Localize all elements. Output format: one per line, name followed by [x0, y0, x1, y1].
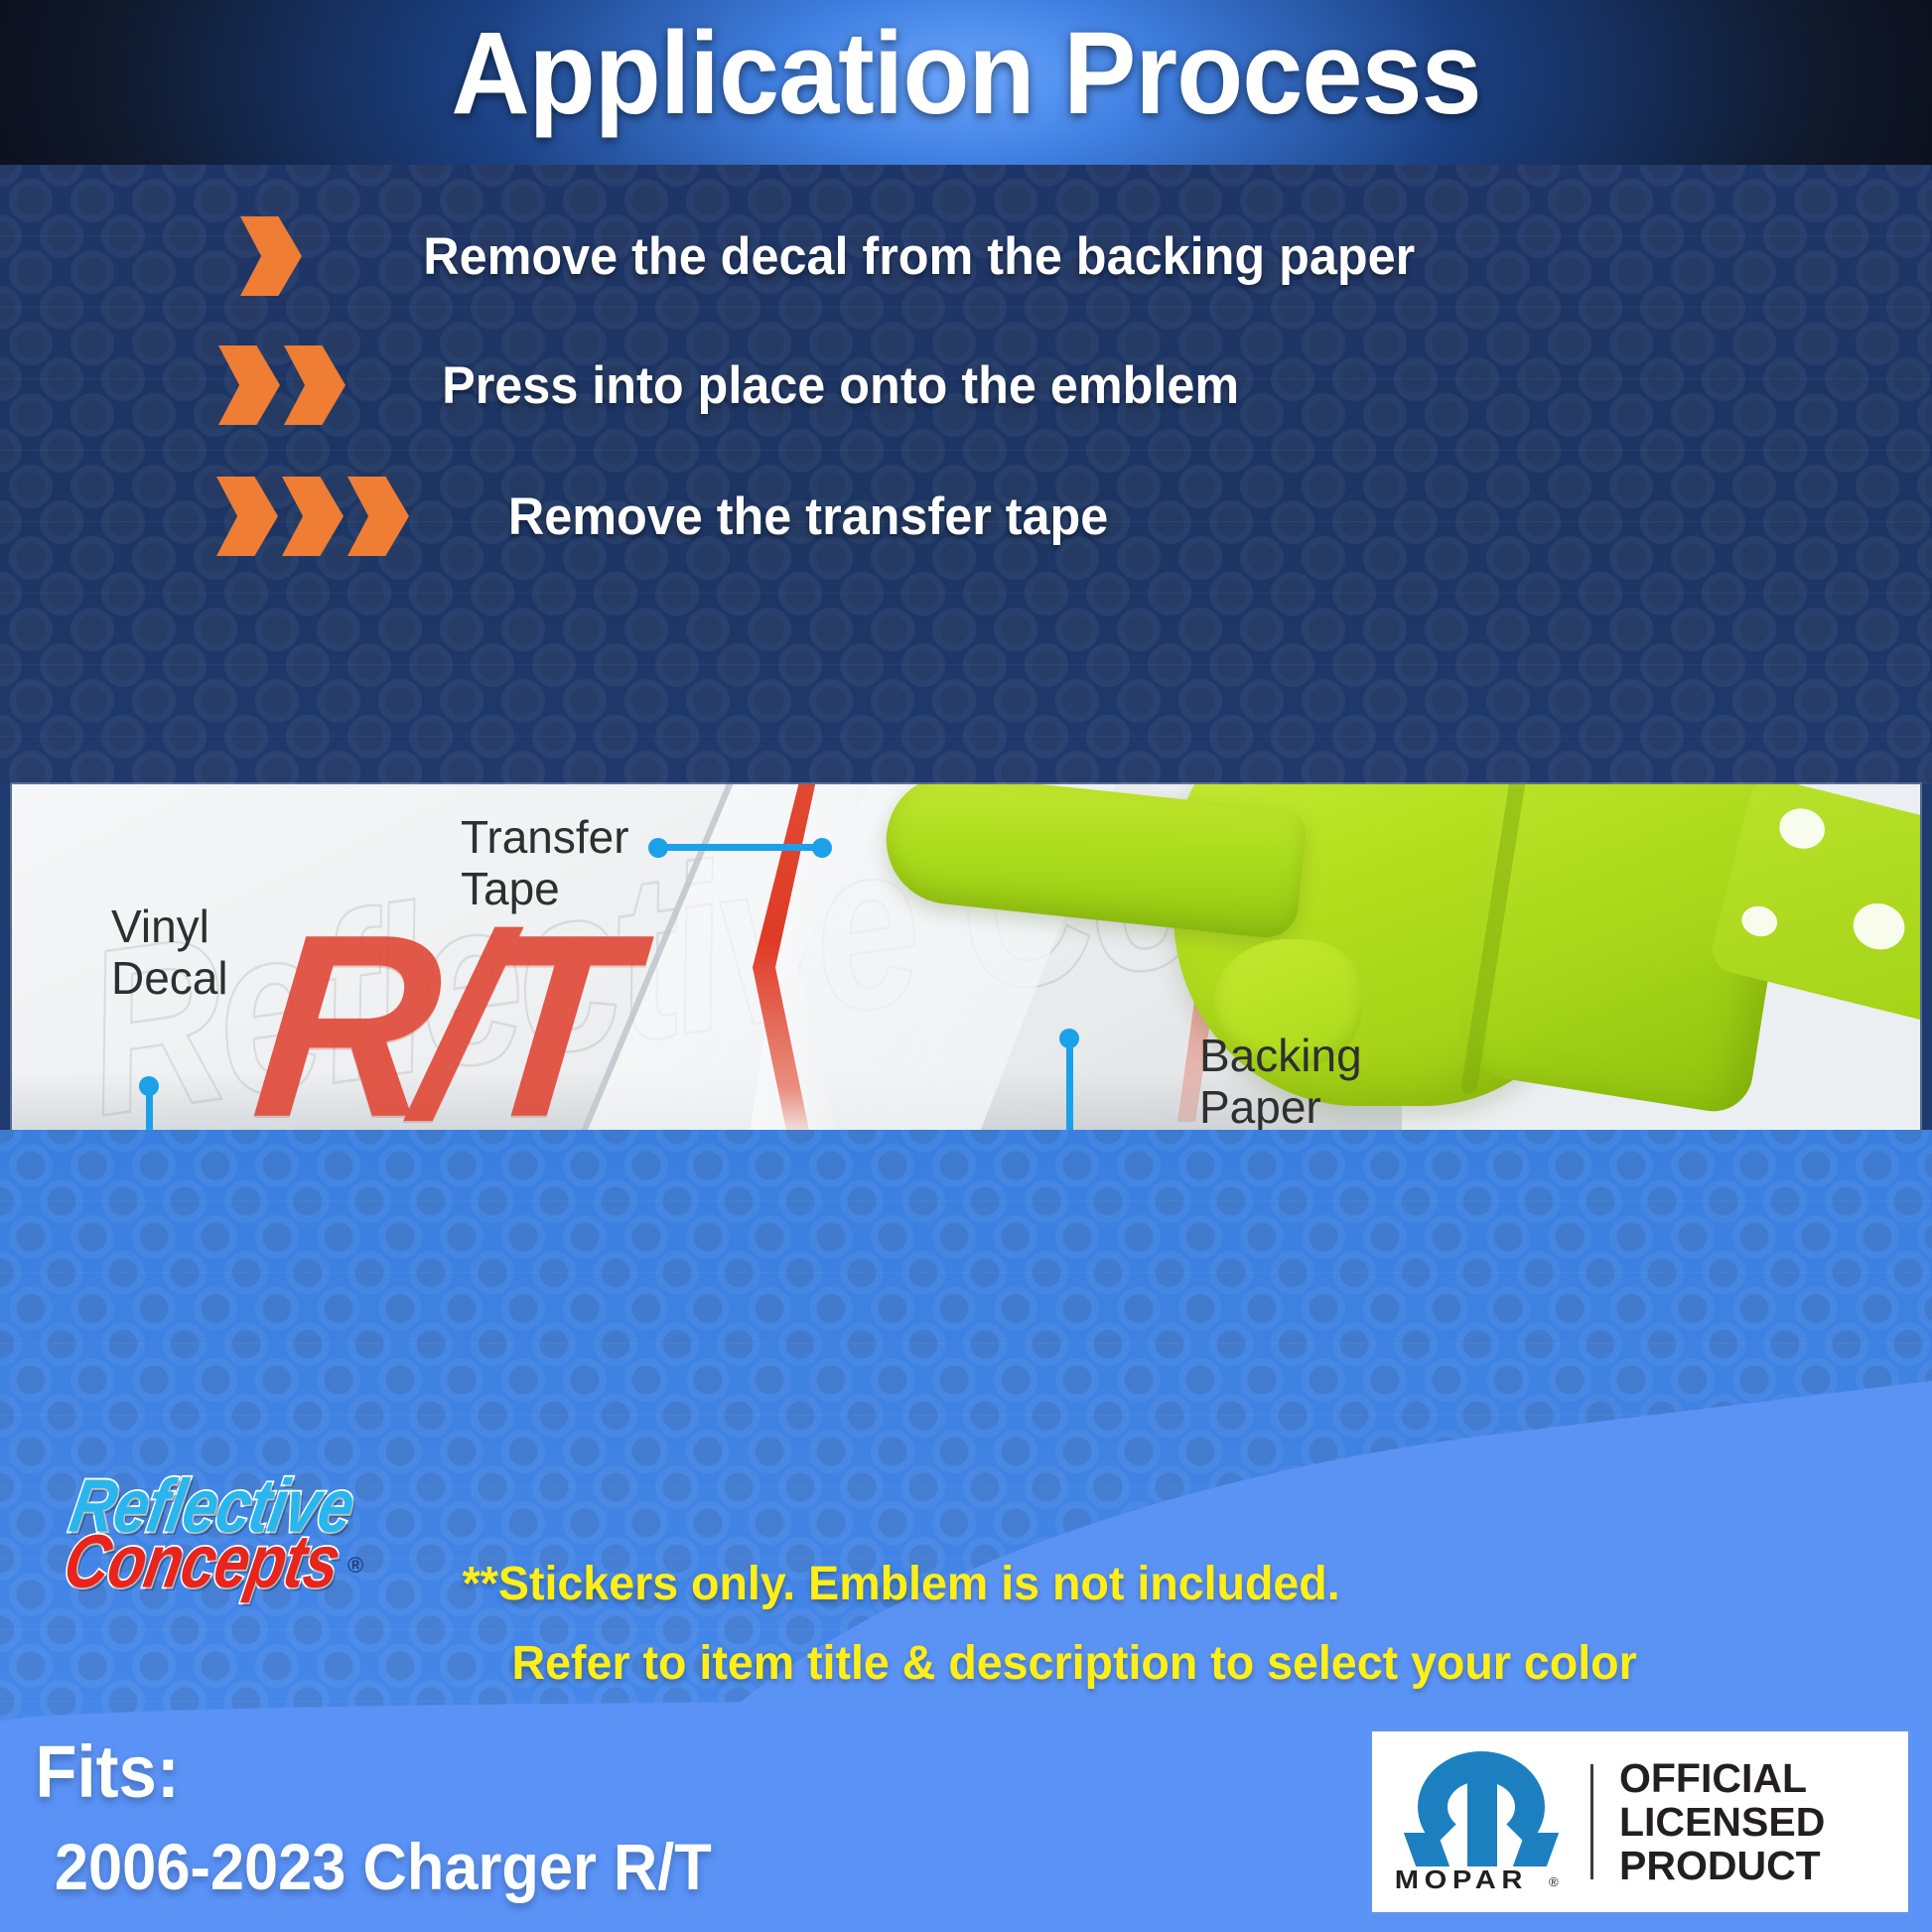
badge-divider	[1590, 1764, 1593, 1879]
leader-dot	[1059, 1029, 1079, 1048]
step-3: Remove the transfer tape	[216, 477, 1124, 556]
leader-dot	[648, 838, 668, 858]
badge-line-3: PRODUCT	[1619, 1844, 1825, 1887]
mopar-wordmark: MOPAR	[1395, 1864, 1528, 1895]
header-banner: Application Process	[0, 0, 1932, 165]
page-title: Application Process	[68, 14, 1864, 133]
badge-text: OFFICIAL LICENSED PRODUCT	[1619, 1756, 1825, 1888]
label-vinyl-decal: Vinyl Decal	[111, 901, 228, 1004]
step-1: Remove the decal from the backing paper	[240, 216, 1441, 296]
step-3-label: Remove the transfer tape	[508, 486, 1108, 547]
mopar-logo-icon: MOPAR ®	[1388, 1747, 1577, 1896]
leader-dot	[812, 838, 832, 858]
pointing-hand-prop	[886, 784, 1920, 1130]
fits-label: Fits:	[35, 1729, 179, 1814]
disclaimer-line-1: **Stickers only. Emblem is not included.	[463, 1557, 1340, 1611]
disclaimer-line-2: Refer to item title & description to sel…	[512, 1636, 1637, 1691]
mopar-licensed-badge: MOPAR ® OFFICIAL LICENSED PRODUCT	[1368, 1727, 1912, 1916]
leader-line-transfer-tape	[657, 844, 822, 851]
label-transfer-tape: Transfer Tape	[461, 812, 629, 914]
label-backing-paper: Backing Paper	[1199, 1031, 1362, 1130]
chevron-group-2	[218, 345, 349, 425]
instructions-panel: Remove the decal from the backing paper …	[0, 165, 1932, 784]
chevron-group-3	[216, 477, 413, 556]
product-photo: Reflective Concepts R/T	[12, 784, 1920, 1130]
mopar-registered-mark: ®	[1549, 1874, 1559, 1889]
leader-line-backing-v	[1066, 1035, 1073, 1130]
sleeve-dot	[1738, 902, 1780, 940]
reflective-concepts-logo: Reflective Concepts ®	[66, 1469, 393, 1628]
fits-value: 2006-2023 Charger R/T	[55, 1829, 712, 1904]
badge-line-2: LICENSED	[1619, 1800, 1825, 1844]
logo-line-2: Concepts	[58, 1519, 345, 1605]
chevron-icon	[347, 477, 409, 556]
step-1-label: Remove the decal from the backing paper	[423, 226, 1415, 287]
leader-dot	[139, 1076, 159, 1096]
omega-bar	[1467, 1775, 1497, 1866]
chevron-icon	[218, 345, 280, 425]
infographic-page: Application Process Remove the decal fro…	[0, 0, 1932, 1932]
step-2-label: Press into place onto the emblem	[442, 355, 1239, 416]
step-2: Press into place onto the emblem	[218, 345, 1260, 425]
chevron-group-1	[240, 216, 306, 296]
sleeve-dot	[1775, 804, 1829, 854]
sleeve-dot	[1849, 898, 1910, 955]
chevron-icon	[282, 477, 344, 556]
chevron-icon	[216, 477, 278, 556]
index-finger	[880, 784, 1308, 941]
badge-line-1: OFFICIAL	[1619, 1756, 1825, 1800]
chevron-icon	[240, 216, 302, 296]
logo-registered-mark: ®	[347, 1553, 363, 1579]
chevron-icon	[284, 345, 345, 425]
